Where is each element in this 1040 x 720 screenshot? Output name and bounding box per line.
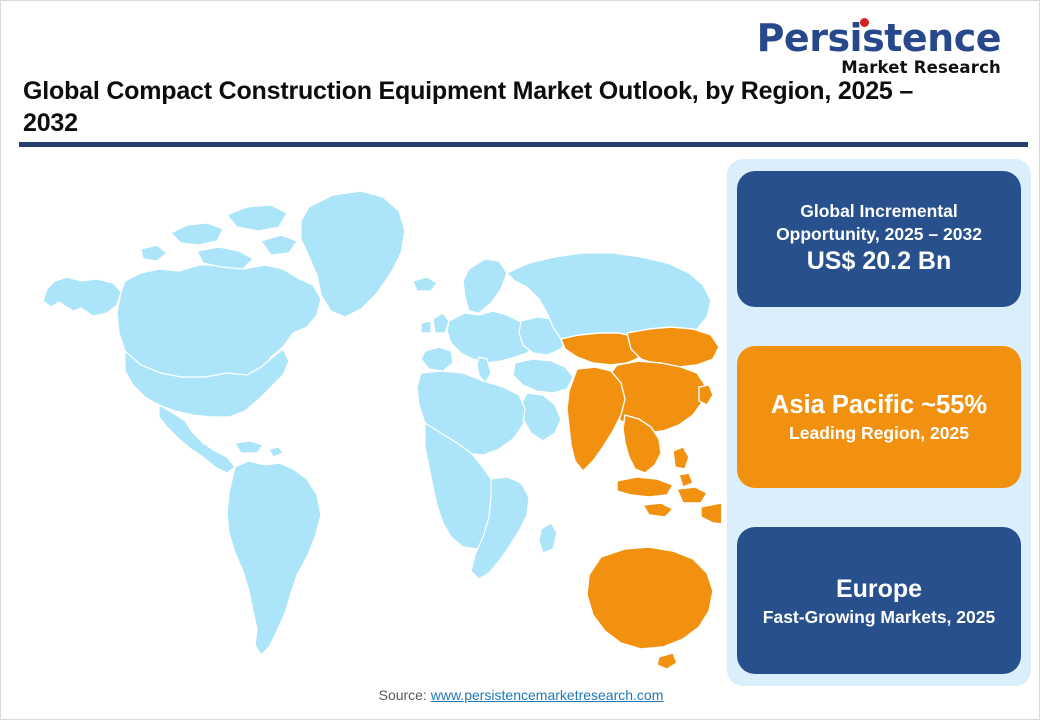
stat-card-value: Asia Pacific ~55%: [771, 389, 987, 422]
logo-wordmark-text: Persistence: [757, 16, 1001, 60]
stat-card-label: Global Incremental Opportunity, 2025 – 2…: [749, 200, 1009, 245]
source-link[interactable]: www.persistencemarketresearch.com: [431, 687, 664, 703]
stat-card-global-incremental-opportunity: Global Incremental Opportunity, 2025 – 2…: [737, 171, 1021, 307]
stat-card-label: Leading Region, 2025: [789, 422, 969, 444]
title-divider: [19, 142, 1028, 147]
map-highlight-asia-pacific: [561, 327, 721, 669]
infographic-page: Persistence Market Research Global Compa…: [0, 0, 1040, 720]
stat-card-leading-region: Asia Pacific ~55% Leading Region, 2025: [737, 346, 1021, 488]
stat-card-value: US$ 20.2 Bn: [807, 245, 952, 278]
source-line: Source: www.persistencemarketresearch.co…: [1, 687, 1040, 703]
stat-card-value: Europe: [836, 573, 922, 606]
logo-wordmark: Persistence: [757, 19, 1001, 57]
logo-red-dot-icon: [860, 18, 869, 27]
stats-panel: Global Incremental Opportunity, 2025 – 2…: [727, 159, 1031, 686]
company-logo: Persistence Market Research: [757, 19, 1001, 77]
stat-card-fast-growing-market: Europe Fast-Growing Markets, 2025: [737, 527, 1021, 674]
page-title: Global Compact Construction Equipment Ma…: [23, 75, 953, 139]
source-prefix: Source:: [379, 687, 431, 703]
stat-card-label: Fast-Growing Markets, 2025: [763, 606, 995, 628]
world-map: [21, 161, 721, 671]
